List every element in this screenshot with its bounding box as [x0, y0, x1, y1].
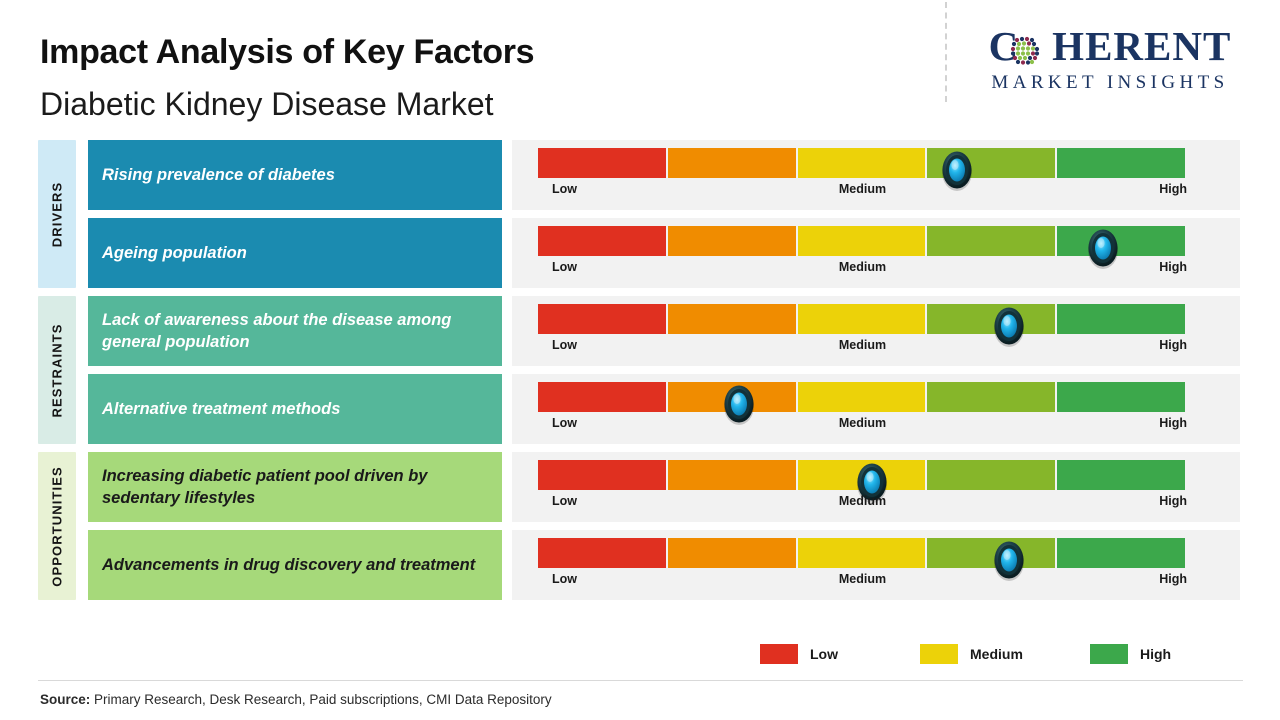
gauge-scale: LowMediumHigh: [538, 416, 1187, 434]
gauge-panel: LowMediumHigh: [512, 296, 1240, 366]
gauge-segment-5: [1057, 460, 1185, 490]
globe-icon: [1008, 34, 1042, 68]
gauge-scale: LowMediumHigh: [538, 338, 1187, 356]
footer-divider: [38, 680, 1243, 681]
gauge-segment-4: [927, 460, 1055, 490]
gauge-scale: LowMediumHigh: [538, 260, 1187, 278]
logo-wordmark: COHERENT: [960, 22, 1260, 70]
category-label-restraints: RESTRAINTS: [38, 296, 76, 444]
factor-label: Increasing diabetic patient pool driven …: [102, 465, 488, 510]
impact-gauge-bar[interactable]: [538, 148, 1187, 178]
gauge-panel: LowMediumHigh: [512, 218, 1240, 288]
impact-gauge-bar[interactable]: [538, 382, 1187, 412]
scale-label-medium: Medium: [839, 182, 886, 196]
impact-matrix: DRIVERSRESTRAINTSOPPORTUNITIESRising pre…: [0, 140, 1280, 610]
scale-label-medium: Medium: [839, 494, 886, 508]
scale-label-low: Low: [552, 416, 577, 430]
gauge-segment-4: [927, 538, 1055, 568]
legend-swatch: [760, 644, 798, 664]
source-label: Source:: [40, 692, 90, 707]
scale-label-low: Low: [552, 572, 577, 586]
gauge-panel: LowMediumHigh: [512, 140, 1240, 210]
gauge-segment-2: [668, 382, 796, 412]
scale-label-high: High: [1159, 260, 1187, 274]
gauge-segment-2: [668, 304, 796, 334]
source-note: Source: Primary Research, Desk Research,…: [40, 692, 552, 707]
scale-label-medium: Medium: [839, 260, 886, 274]
legend-swatch: [1090, 644, 1128, 664]
gauge-segment-3: [798, 304, 926, 334]
impact-gauge-bar[interactable]: [538, 226, 1187, 256]
gauge-segment-1: [538, 304, 666, 334]
coherent-market-insights-logo: COHERENT: [960, 22, 1260, 98]
scale-label-high: High: [1159, 338, 1187, 352]
scale-label-medium: Medium: [839, 416, 886, 430]
gauge-segment-5: [1057, 382, 1185, 412]
page-title: Impact Analysis of Key Factors: [40, 33, 534, 72]
impact-gauge-bar[interactable]: [538, 538, 1187, 568]
factor-box: Rising prevalence of diabetes: [88, 140, 502, 210]
gauge-segment-2: [668, 460, 796, 490]
gauge-segment-3: [798, 148, 926, 178]
impact-gauge-bar[interactable]: [538, 460, 1187, 490]
gauge-segment-3: [798, 382, 926, 412]
gauge-segment-3: [798, 460, 926, 490]
category-label-drivers: DRIVERS: [38, 140, 76, 288]
scale-label-high: High: [1159, 416, 1187, 430]
scale-label-medium: Medium: [839, 338, 886, 352]
gauge-segment-3: [798, 538, 926, 568]
scale-label-low: Low: [552, 182, 577, 196]
factor-box: Alternative treatment methods: [88, 374, 502, 444]
scale-label-low: Low: [552, 338, 577, 352]
factor-box: Ageing population: [88, 218, 502, 288]
scale-label-high: High: [1159, 182, 1187, 196]
gauge-panel: LowMediumHigh: [512, 530, 1240, 600]
legend-swatch: [920, 644, 958, 664]
legend-label: Low: [810, 646, 838, 662]
page-subtitle: Diabetic Kidney Disease Market: [40, 86, 494, 123]
gauge-segment-1: [538, 148, 666, 178]
gauge-segment-1: [538, 226, 666, 256]
logo-word-rest: HERENT: [1052, 23, 1231, 69]
impact-gauge-bar[interactable]: [538, 304, 1187, 334]
category-label-text: DRIVERS: [50, 181, 65, 247]
factor-label: Rising prevalence of diabetes: [102, 164, 335, 186]
header-divider: [945, 2, 947, 102]
gauge-scale: LowMediumHigh: [538, 572, 1187, 590]
gauge-segment-1: [538, 382, 666, 412]
factor-label: Ageing population: [102, 242, 247, 264]
category-label-text: OPPORTUNITIES: [50, 466, 65, 586]
gauge-segment-1: [538, 538, 666, 568]
logo-tagline: MARKET INSIGHTS: [960, 72, 1260, 94]
gauge-segment-5: [1057, 304, 1185, 334]
factor-box: Lack of awareness about the disease amon…: [88, 296, 502, 366]
legend: LowMediumHigh: [760, 644, 1200, 670]
category-label-text: RESTRAINTS: [50, 323, 65, 417]
gauge-segment-4: [927, 304, 1055, 334]
factor-label: Alternative treatment methods: [102, 398, 340, 420]
legend-item-low: Low: [760, 644, 838, 664]
legend-item-high: High: [1090, 644, 1171, 664]
gauge-segment-5: [1057, 538, 1185, 568]
gauge-segment-4: [927, 226, 1055, 256]
header: Impact Analysis of Key Factors Diabetic …: [0, 0, 1280, 132]
category-label-opportunities: OPPORTUNITIES: [38, 452, 76, 600]
factor-label: Lack of awareness about the disease amon…: [102, 309, 488, 354]
gauge-segment-1: [538, 460, 666, 490]
gauge-segment-2: [668, 148, 796, 178]
scale-label-medium: Medium: [839, 572, 886, 586]
gauge-segment-2: [668, 226, 796, 256]
legend-item-medium: Medium: [920, 644, 1023, 664]
gauge-segment-5: [1057, 148, 1185, 178]
legend-label: Medium: [970, 646, 1023, 662]
factor-box: Advancements in drug discovery and treat…: [88, 530, 502, 600]
factor-box: Increasing diabetic patient pool driven …: [88, 452, 502, 522]
scale-label-high: High: [1159, 494, 1187, 508]
source-text: Primary Research, Desk Research, Paid su…: [90, 692, 551, 707]
scale-label-low: Low: [552, 494, 577, 508]
gauge-segment-2: [668, 538, 796, 568]
gauge-segment-3: [798, 226, 926, 256]
gauge-segment-5: [1057, 226, 1185, 256]
gauge-segment-4: [927, 148, 1055, 178]
factor-label: Advancements in drug discovery and treat…: [102, 554, 475, 576]
gauge-scale: LowMediumHigh: [538, 182, 1187, 200]
scale-label-low: Low: [552, 260, 577, 274]
gauge-segment-4: [927, 382, 1055, 412]
gauge-panel: LowMediumHigh: [512, 374, 1240, 444]
gauge-scale: LowMediumHigh: [538, 494, 1187, 512]
gauge-panel: LowMediumHigh: [512, 452, 1240, 522]
scale-label-high: High: [1159, 572, 1187, 586]
legend-label: High: [1140, 646, 1171, 662]
